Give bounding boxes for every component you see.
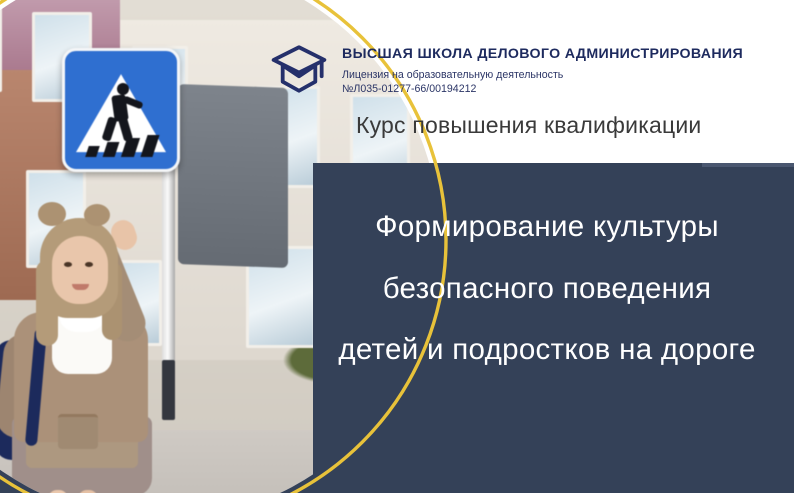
- hair-bun: [38, 202, 66, 226]
- brand-block: ВЫСШАЯ ШКОЛА ДЕЛОВОГО АДМИНИСТРИРОВАНИЯ …: [270, 40, 743, 98]
- license-line-1: Лицензия на образовательную деятельность: [342, 69, 743, 83]
- pocket: [58, 414, 98, 449]
- eye: [85, 262, 93, 267]
- graduation-cap-icon: [270, 40, 328, 98]
- organization-name: ВЫСШАЯ ШКОЛА ДЕЛОВОГО АДМИНИСТРИРОВАНИЯ: [342, 46, 743, 62]
- course-title-block: Формирование культуры безопасного поведе…: [300, 212, 794, 365]
- course-title-line-1: Формирование культуры: [300, 212, 794, 242]
- mouth: [72, 284, 89, 290]
- course-title-line-3: детей и подростков на дороге: [300, 335, 794, 365]
- license-info: Лицензия на образовательную деятельность…: [342, 69, 743, 96]
- course-type-label: Курс повышения квалификации: [356, 112, 766, 139]
- course-title-line-2: безопасного поведения: [300, 274, 794, 304]
- schoolgirl-figure: [0, 200, 202, 493]
- eye: [64, 262, 72, 267]
- license-line-2: №Л035-01277-66/00194212: [342, 83, 743, 97]
- poster-root: ВЫСШАЯ ШКОЛА ДЕЛОВОГО АДМИНИСТРИРОВАНИЯ …: [0, 0, 794, 493]
- hair-bun: [84, 204, 110, 226]
- face: [52, 236, 108, 304]
- header-band: ВЫСШАЯ ШКОЛА ДЕЛОВОГО АДМИНИСТРИРОВАНИЯ …: [0, 0, 794, 163]
- brand-text-block: ВЫСШАЯ ШКОЛА ДЕЛОВОГО АДМИНИСТРИРОВАНИЯ …: [342, 40, 743, 96]
